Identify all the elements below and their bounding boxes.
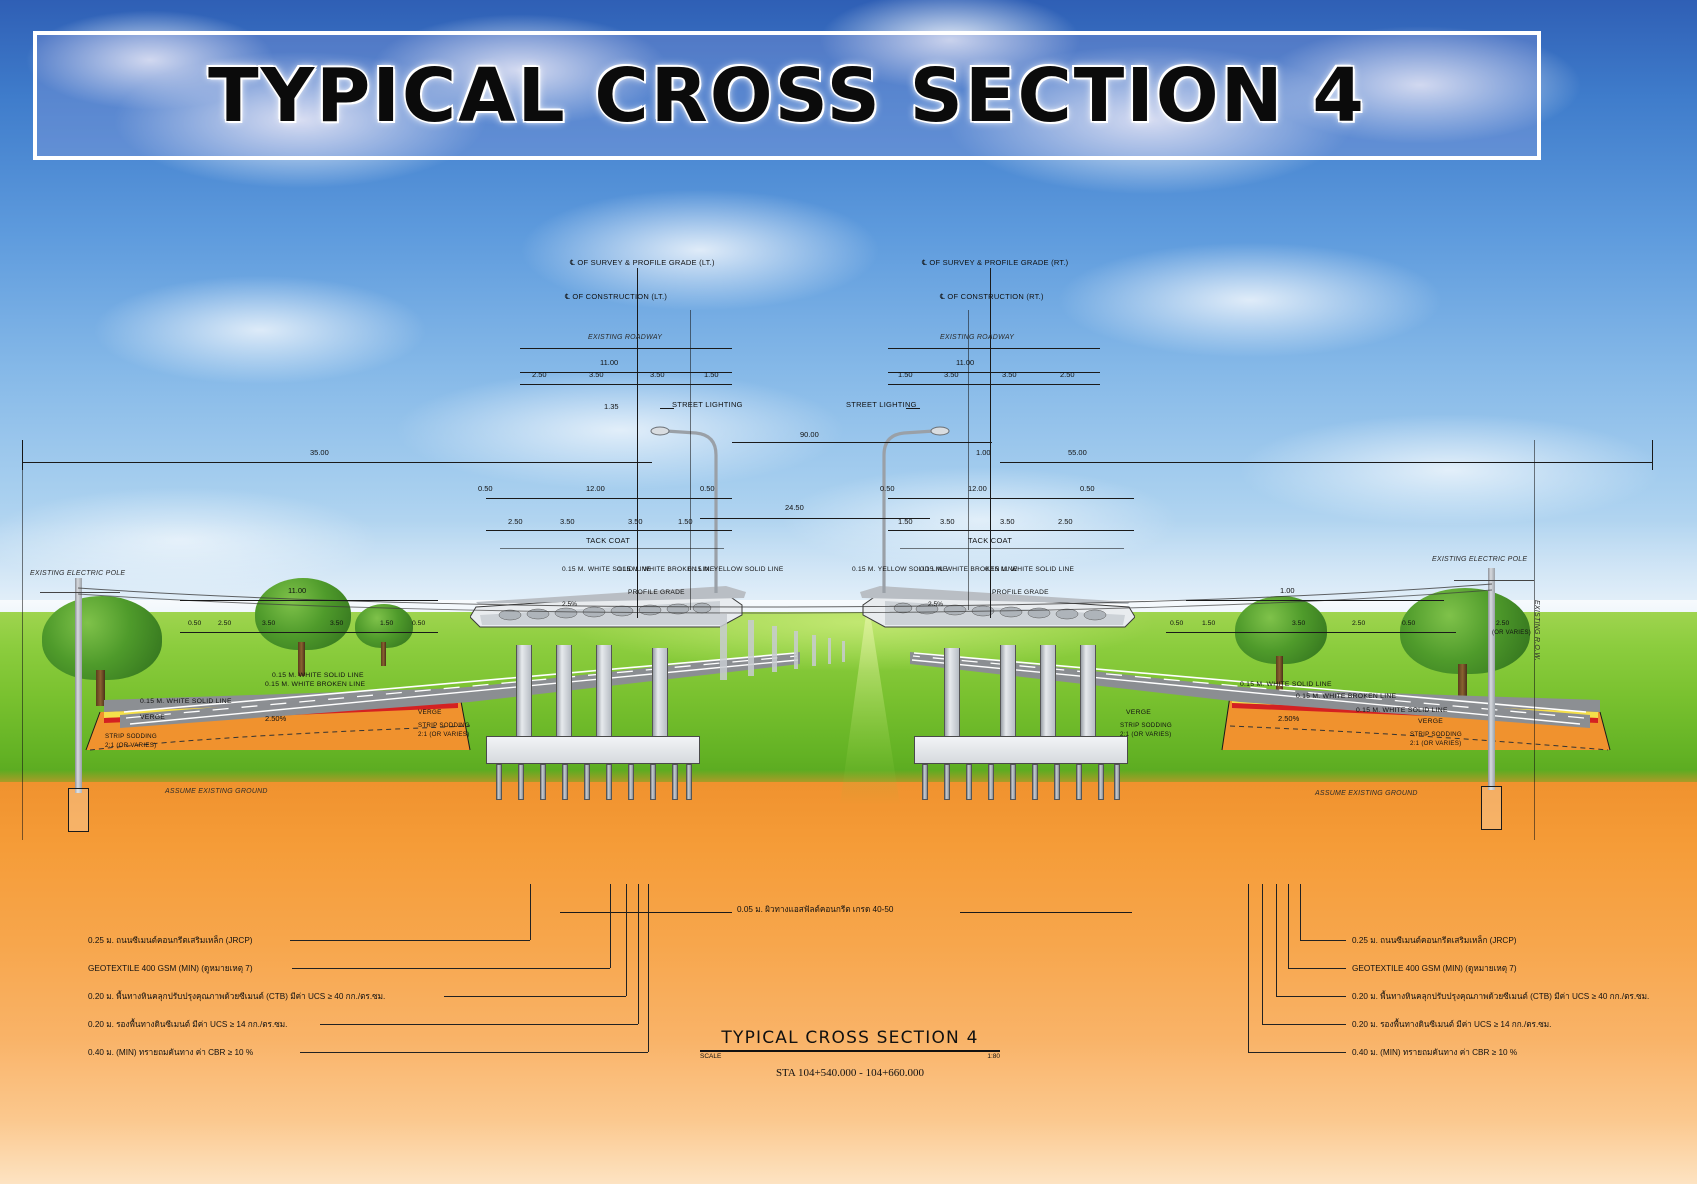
tack-coat-rt-line xyxy=(900,548,1124,549)
label-verge-left: VERGE xyxy=(140,714,165,721)
dim-existing-roadway-width-lt: 11.00 xyxy=(600,358,618,367)
legend-right-leader-0-v xyxy=(1300,884,1301,940)
dim-overall-lt-line xyxy=(22,462,652,463)
legend-left-row-0: 0.25 ม. ถนนซีเมนต์คอนกรีตเสริมเหล็ก (JRC… xyxy=(88,934,253,947)
label-existing-pole-right: EXISTING ELECTRIC POLE xyxy=(1432,556,1527,563)
dim-lane-lt-1: 3.50 xyxy=(589,370,604,379)
legend-right-row-0: 0.25 ม. ถนนซีเมนต์คอนกรีตเสริมเหล็ก (JRC… xyxy=(1352,934,1517,947)
label-verge-right-1: VERGE xyxy=(1126,709,1151,716)
legend-left-leader-1-v xyxy=(610,884,611,968)
label-right-outer: 0.15 M. WHITE SOLID LINE xyxy=(1356,707,1448,714)
dim-deck-lt-2: 3.50 xyxy=(628,517,643,526)
dim-lane-lt-3: 1.50 xyxy=(704,370,719,379)
dim-bridge-span-line xyxy=(732,442,992,443)
pile-cap-left xyxy=(486,736,700,764)
dim-shoulder-in-lt: 1.35 xyxy=(604,402,619,411)
dim-ground-lt-chain-line xyxy=(180,632,438,633)
legend-left-leader-4-v xyxy=(648,884,649,1052)
pier-left-3 xyxy=(596,645,612,740)
dim-deck-half-lt: 12.00 xyxy=(586,484,605,493)
legend-left-row-1: GEOTEXTILE 400 GSM (MIN) (ดูหมายเหตุ 7) xyxy=(88,962,253,975)
title-block-station: STA 104+540.000 - 104+660.000 xyxy=(700,1067,1000,1079)
title-block-scale-value: 1:80 xyxy=(987,1053,1000,1060)
legend-left-leader-0-v xyxy=(530,884,531,940)
center-note: 0.05 ม. ผิวทางแอสฟัลต์คอนกรีต เกรด 40-50 xyxy=(737,903,894,916)
dim-lane-chain-lt-line xyxy=(520,384,732,385)
dim-ground-lt-line xyxy=(180,600,438,601)
label-existing-pole-left: EXISTING ELECTRIC POLE xyxy=(30,570,125,577)
label-strip-sodding-mid: STRIP SODDING xyxy=(418,722,470,729)
legend-left-leader-4 xyxy=(300,1052,648,1053)
label-strip-sodding-left: STRIP SODDING xyxy=(105,733,157,740)
dim-cross-slope-left: 2.50% xyxy=(265,714,286,723)
label-right-broken: 0.15 M. WHITE BROKEN LINE xyxy=(1296,693,1396,700)
dim-deck-slope-lt: 2.5% xyxy=(562,601,577,608)
legend-left-leader-3 xyxy=(320,1024,638,1025)
dim-ground-rt-line xyxy=(1186,600,1444,601)
pier-right-2 xyxy=(1000,645,1016,740)
dim-ground-lt-4: 1.50 xyxy=(380,620,393,627)
row-line-left xyxy=(22,440,23,840)
dim-ground-rt-3: 2.50 xyxy=(1352,620,1365,627)
label-existing-roadway-rt: EXISTING ROADWAY xyxy=(940,334,1014,341)
dim-ground-lt-total: 11.00 xyxy=(288,586,306,595)
label-street-lighting-lt: STREET LIGHTING xyxy=(672,400,743,409)
dim-lane-lt-0: 2.50 xyxy=(532,370,547,379)
label-survey-lt: ℄ OF SURVEY & PROFILE GRADE (LT.) xyxy=(570,258,715,267)
leader-street-lighting-lt xyxy=(660,408,674,409)
dim-edge-strip-rt-a: 0.50 xyxy=(880,484,895,493)
leader-center-note-right xyxy=(960,912,1132,913)
dim-deck-lt-0: 2.50 xyxy=(508,517,523,526)
legend-right-row-3: 0.20 ม. รองพื้นทางดินซีเมนต์ มีค่า UCS ≥… xyxy=(1352,1018,1551,1031)
dim-deck-lt-1: 3.50 xyxy=(560,517,575,526)
label-tack-coat-rt: TACK COAT xyxy=(968,536,1012,545)
dim-lane-lt-2: 3.50 xyxy=(650,370,665,379)
title-block-rule xyxy=(700,1050,1000,1052)
legend-left-row-3: 0.20 ม. รองพื้นทางดินซีเมนต์ มีค่า UCS ≥… xyxy=(88,1018,287,1031)
label-row-offset-note: (OR VARIES) xyxy=(1492,630,1531,636)
dim-ground-rt-0: 0.50 xyxy=(1170,620,1183,627)
label-left-outer: 0.15 M. WHITE SOLID LINE xyxy=(140,698,232,705)
dim-ground-rt-4: 0.50 xyxy=(1402,620,1415,627)
dim-median-line xyxy=(700,518,930,519)
label-deck-rt-white-solid: 0.15 M. WHITE SOLID LINE xyxy=(985,566,1074,573)
dim-overall-left: 35.00 xyxy=(310,448,329,457)
title-banner: TYPICAL CROSS SECTION 4 xyxy=(33,31,1541,160)
dim-overall-rt-ext xyxy=(1652,440,1653,470)
legend-right-leader-3-v xyxy=(1262,884,1263,1024)
label-assume-ground-left: ASSUME EXISTING GROUND xyxy=(165,788,268,795)
legend-left-leader-0 xyxy=(290,940,530,941)
dim-ground-lt-1: 2.50 xyxy=(218,620,231,627)
pole-base-left xyxy=(68,788,89,832)
dim-row-offset-right: 2.50 xyxy=(1496,620,1509,627)
dim-ground-rt-1: 1.50 xyxy=(1202,620,1215,627)
dim-ground-rt-2: 3.50 xyxy=(1292,620,1305,627)
dim-bridge-span: 90.00 xyxy=(800,430,819,439)
banner-title: TYPICAL CROSS SECTION 4 xyxy=(208,59,1366,133)
dim-deck-slope-rt: 2.5% xyxy=(928,601,943,608)
pier-right-1 xyxy=(944,648,960,740)
title-block-title: TYPICAL CROSS SECTION 4 xyxy=(700,1028,1000,1048)
legend-left-leader-1 xyxy=(292,968,610,969)
row-line-right xyxy=(1534,440,1535,840)
drawing-sheet: TYPICAL CROSS SECTION 4 xyxy=(0,0,1697,1184)
dim-lane-rt-3: 2.50 xyxy=(1060,370,1075,379)
dim-ground-rt-total: 1.00 xyxy=(1280,586,1295,595)
label-strip-sodding-right: STRIP SODDING xyxy=(1120,722,1172,729)
legend-left-leader-3-v xyxy=(638,884,639,1024)
legend-left-row-4: 0.40 ม. (MIN) ทรายถมคันทาง ค่า CBR ≥ 10 … xyxy=(88,1046,253,1059)
legend-right-row-2: 0.20 ม. พื้นทางหินคลุกปรับปรุงคุณภาพด้วย… xyxy=(1352,990,1649,1003)
legend-right-leader-3 xyxy=(1262,1024,1346,1025)
dim-lane-rt-0: 1.50 xyxy=(898,370,913,379)
dim-deck-half-rt: 12.00 xyxy=(968,484,987,493)
legend-left-row-2: 0.20 ม. พื้นทางหินคลุกปรับปรุงคุณภาพด้วย… xyxy=(88,990,385,1003)
leader-street-lighting-rt xyxy=(906,408,920,409)
dim-lane-chain-rt-line xyxy=(888,384,1100,385)
legend-right-leader-0 xyxy=(1300,940,1346,941)
dim-edge-strip-lt-b: 0.50 xyxy=(700,484,715,493)
dim-lane-rt-1: 3.50 xyxy=(944,370,959,379)
label-strip-sodding-left-ratio: 2:1 (OR VARIES) xyxy=(105,742,156,749)
earth-fill xyxy=(0,782,1697,1184)
dim-deck-lt-3: 1.50 xyxy=(678,517,693,526)
legend-left-leader-2-v xyxy=(626,884,627,996)
label-strip-sodding-right-ratio: 2:1 (OR VARIES) xyxy=(1120,731,1171,738)
centerline-construction-lt xyxy=(690,310,691,610)
tack-coat-lt-line xyxy=(500,548,724,549)
label-construction-lt: ℄ OF CONSTRUCTION (LT.) xyxy=(565,292,667,301)
dim-edge-strip-rt-b: 0.50 xyxy=(1080,484,1095,493)
dim-deck-rt-line xyxy=(888,498,1134,499)
dim-deck-chain-lt-line xyxy=(486,530,732,531)
dim-ground-lt-0: 0.50 xyxy=(188,620,201,627)
label-strip-sodding-right-2-ratio: 2:1 (OR VARIES) xyxy=(1410,740,1461,747)
label-strip-sodding-mid-ratio: 2:1 (OR VARIES) xyxy=(418,731,469,738)
label-left-inner: 0.15 M. WHITE SOLID LINE xyxy=(272,672,364,679)
dim-median-width: 24.50 xyxy=(785,503,804,512)
pier-left-4 xyxy=(652,648,668,740)
legend-right-leader-4-v xyxy=(1248,884,1249,1052)
dim-existing-roadway-width-rt: 11.00 xyxy=(956,358,974,367)
label-profile-grade-lt: PROFILE GRADE xyxy=(628,589,685,596)
legend-right-leader-1 xyxy=(1288,968,1346,969)
dim-edge-strip-lt-a: 0.50 xyxy=(478,484,493,493)
pile-cap-right xyxy=(914,736,1128,764)
label-survey-rt: ℄ OF SURVEY & PROFILE GRADE (RT.) xyxy=(922,258,1068,267)
dim-ground-lt-2: 3.50 xyxy=(262,620,275,627)
pole-base-right xyxy=(1481,786,1502,830)
dim-ground-lt-3: 3.50 xyxy=(330,620,343,627)
dim-ground-rt-chain-line xyxy=(1166,632,1456,633)
label-assume-ground-right: ASSUME EXISTING GROUND xyxy=(1315,790,1418,797)
label-verge-left-2: VERGE xyxy=(418,709,442,716)
label-profile-grade-rt: PROFILE GRADE xyxy=(992,589,1049,596)
pier-left-2 xyxy=(556,645,572,740)
label-left-broken: 0.15 M. WHITE BROKEN LINE xyxy=(265,681,365,688)
label-existing-roadway-lt: EXISTING ROADWAY xyxy=(588,334,662,341)
dim-11-lt-line xyxy=(520,372,732,373)
dim-cross-slope-right: 2.50% xyxy=(1278,714,1299,723)
legend-right-row-1: GEOTEXTILE 400 GSM (MIN) (ดูหมายเหตุ 7) xyxy=(1352,962,1517,975)
dim-deck-rt-0: 1.50 xyxy=(898,517,913,526)
legend-right-row-4: 0.40 ม. (MIN) ทรายถมคันทาง ค่า CBR ≥ 10 … xyxy=(1352,1046,1517,1059)
label-right-inner: 0.15 M. WHITE SOLID LINE xyxy=(1240,681,1332,688)
title-block: TYPICAL CROSS SECTION 4 SCALE 1:80 STA 1… xyxy=(700,1028,1000,1079)
dim-lane-rt-2: 3.50 xyxy=(1002,370,1017,379)
label-tack-coat-lt: TACK COAT xyxy=(586,536,630,545)
dim-overall-rt-line xyxy=(1000,462,1652,463)
dim-deck-rt-1: 3.50 xyxy=(940,517,955,526)
label-verge-right-2: VERGE xyxy=(1418,718,1443,725)
pier-right-3 xyxy=(1040,645,1056,740)
pier-left-1 xyxy=(516,645,532,740)
label-construction-rt: ℄ OF CONSTRUCTION (RT.) xyxy=(940,292,1044,301)
label-deck-lt-yellow-solid: 0.15 M. YELLOW SOLID LINE xyxy=(688,566,784,573)
legend-left-leader-2 xyxy=(444,996,626,997)
title-block-scale-label: SCALE xyxy=(700,1053,721,1060)
dim-deck-chain-rt-line xyxy=(888,530,1134,531)
dim-existing-roadway-lt-line xyxy=(520,348,732,349)
legend-right-leader-4 xyxy=(1248,1052,1346,1053)
dim-deck-lt-line xyxy=(486,498,732,499)
dim-deck-rt-3: 2.50 xyxy=(1058,517,1073,526)
dim-ground-lt-5: 0.50 xyxy=(412,620,425,627)
legend-right-leader-2 xyxy=(1276,996,1346,997)
legend-right-leader-2-v xyxy=(1276,884,1277,996)
dim-overall-right: 55.00 xyxy=(1068,448,1087,457)
centerline-construction-rt xyxy=(968,310,969,610)
label-strip-sodding-right-2: STRIP SODDING xyxy=(1410,731,1462,738)
leader-center-note-left xyxy=(560,912,732,913)
dim-shoulder-in-rt: 1.00 xyxy=(976,448,991,457)
legend-right-leader-1-v xyxy=(1288,884,1289,968)
dim-deck-rt-2: 3.50 xyxy=(1000,517,1015,526)
pier-right-4 xyxy=(1080,645,1096,740)
dim-existing-roadway-rt-line xyxy=(888,348,1100,349)
